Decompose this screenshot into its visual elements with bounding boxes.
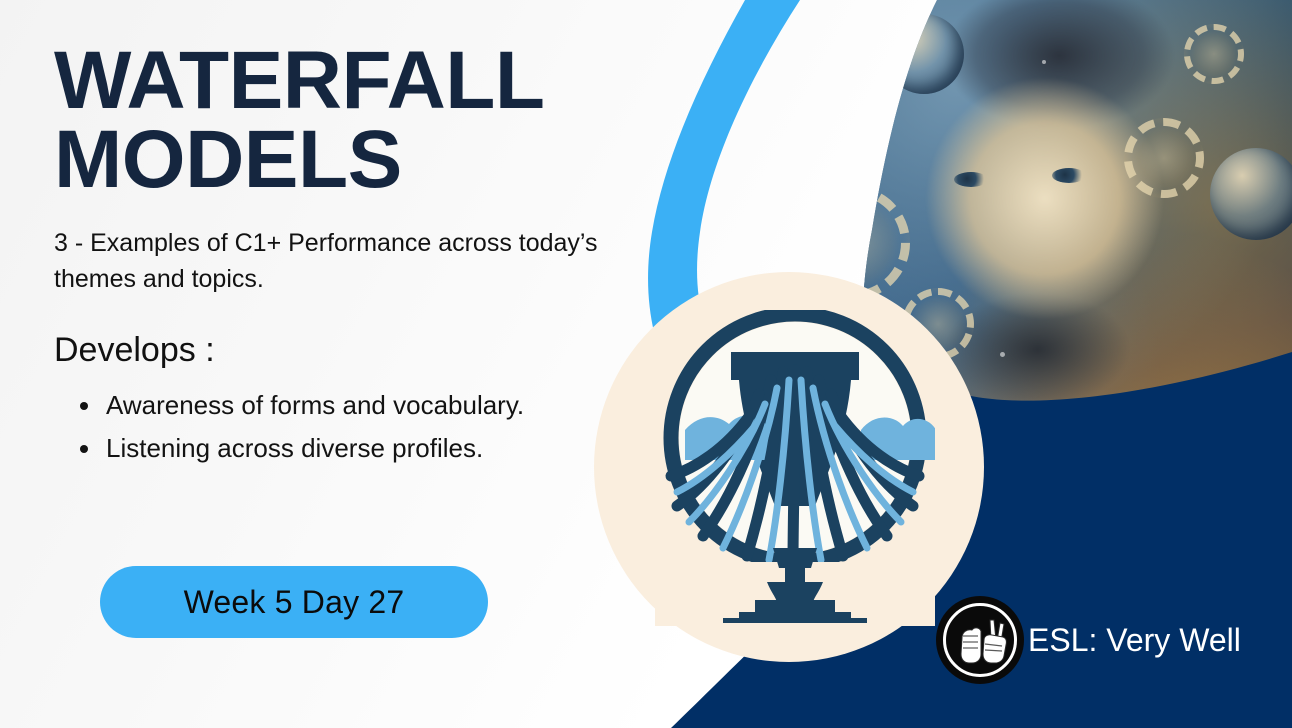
sparkle-dot bbox=[750, 120, 755, 125]
waterfall-trophy-emblem-icon bbox=[655, 310, 935, 626]
hands-glyph bbox=[936, 596, 1024, 684]
sparkle-dot bbox=[1042, 60, 1046, 64]
planet-icon bbox=[792, 90, 854, 152]
slide-content: WATERFALL MODELS 3 - Examples of C1+ Per… bbox=[54, 42, 674, 470]
develops-heading: Develops : bbox=[54, 331, 674, 370]
week-day-label: Week 5 Day 27 bbox=[184, 584, 405, 621]
globe-icon bbox=[884, 14, 964, 94]
two-hands-fist-and-peace-icon bbox=[936, 596, 1024, 684]
list-item: Awareness of forms and vocabulary. bbox=[80, 384, 674, 427]
list-item: Listening across diverse profiles. bbox=[80, 427, 674, 470]
portrait-eye-right bbox=[1052, 168, 1086, 183]
brand-name-label: ESL: Very Well bbox=[1028, 622, 1241, 659]
page-title-line-1: WATERFALL bbox=[54, 42, 674, 119]
globe-icon bbox=[1210, 148, 1292, 240]
sparkle-dot bbox=[1000, 352, 1005, 357]
page-title-line-2: MODELS bbox=[54, 121, 674, 198]
brand-badge[interactable]: ESL: Very Well bbox=[936, 596, 1241, 684]
slide-canvas: WATERFALL MODELS 3 - Examples of C1+ Per… bbox=[0, 0, 1292, 728]
week-day-badge[interactable]: Week 5 Day 27 bbox=[100, 566, 488, 638]
develops-bullet-list: Awareness of forms and vocabulary. Liste… bbox=[54, 384, 674, 470]
subtitle-text: 3 - Examples of C1+ Performance across t… bbox=[54, 226, 634, 297]
sparkle-dot bbox=[768, 208, 772, 212]
gear-icon bbox=[1124, 118, 1204, 198]
gear-icon bbox=[1184, 24, 1244, 84]
portrait-eye-left bbox=[954, 172, 988, 187]
